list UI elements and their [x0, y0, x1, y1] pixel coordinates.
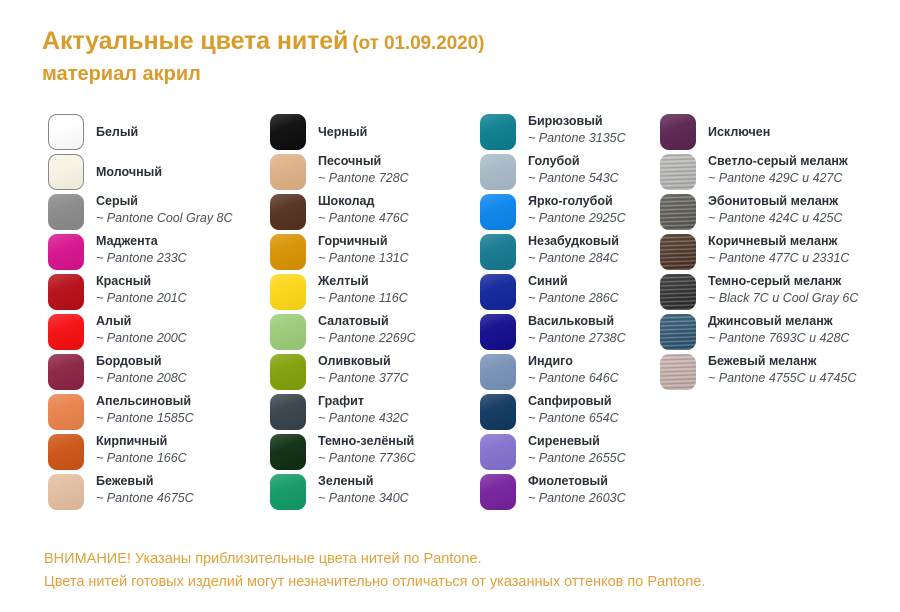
color-row[interactable]: Ярко-голубой~ Pantone 2925C: [480, 192, 655, 232]
color-labels: Джинсовый меланж~ Pantone 7693C и 428C: [708, 312, 849, 353]
color-labels: Незабудковый~ Pantone 284C: [528, 232, 619, 273]
color-swatch[interactable]: [270, 394, 306, 430]
color-swatch[interactable]: [480, 474, 516, 510]
color-column-0: БелыйМолочныйСерый~ Pantone Cool Gray 8C…: [48, 112, 263, 512]
color-labels: Черный: [318, 112, 367, 152]
color-labels: Темно-серый меланж~ Black 7C и Cool Gray…: [708, 272, 858, 313]
color-name: Эбонитовый меланж: [708, 193, 842, 209]
color-row[interactable]: Эбонитовый меланж~ Pantone 424C и 425C: [660, 192, 895, 232]
color-name: Бежевый: [96, 473, 194, 489]
disclaimer-footer: ВНИМАНИЕ! Указаны приблизительные цвета …: [44, 548, 864, 594]
pantone-code: ~ Pantone 2269C: [318, 330, 416, 346]
color-column-2: Бирюзовый~ Pantone 3135CГолубой~ Pantone…: [480, 112, 655, 512]
color-swatch[interactable]: [660, 154, 696, 190]
swatch-sheen-overlay: [270, 354, 306, 390]
color-name: Горчичный: [318, 233, 409, 249]
color-row[interactable]: Исключен: [660, 112, 895, 152]
color-name: Незабудковый: [528, 233, 619, 249]
color-row[interactable]: Горчичный~ Pantone 131C: [270, 232, 475, 272]
swatch-sheen-overlay: [480, 394, 516, 430]
swatch-sheen-overlay: [270, 394, 306, 430]
pantone-code: ~ Pantone 429C и 427C: [708, 170, 848, 186]
pantone-code: ~ Pantone 201C: [96, 290, 187, 306]
color-name: Сиреневый: [528, 433, 626, 449]
pantone-code: ~ Pantone 477C и 2331C: [708, 250, 849, 266]
color-swatch[interactable]: [270, 354, 306, 390]
color-name: Песочный: [318, 153, 409, 169]
swatch-sheen-overlay: [48, 474, 84, 510]
color-row[interactable]: Серый~ Pantone Cool Gray 8C: [48, 192, 263, 232]
color-row[interactable]: Джинсовый меланж~ Pantone 7693C и 428C: [660, 312, 895, 352]
disclaimer-line-2: Цвета нитей готовых изделий могут незнач…: [44, 571, 864, 594]
color-labels: Бордовый~ Pantone 208C: [96, 352, 187, 393]
color-row[interactable]: Коричневый меланж~ Pantone 477C и 2331C: [660, 232, 895, 272]
color-name: Индиго: [528, 353, 619, 369]
color-swatch[interactable]: [48, 274, 84, 310]
color-row[interactable]: Кирпичный~ Pantone 166C: [48, 432, 263, 472]
color-labels: Красный~ Pantone 201C: [96, 272, 187, 313]
color-labels: Кирпичный~ Pantone 166C: [96, 432, 187, 473]
color-row[interactable]: Оливковый~ Pantone 377C: [270, 352, 475, 392]
color-swatch[interactable]: [270, 114, 306, 150]
swatch-sheen-overlay: [480, 354, 516, 390]
color-labels: Исключен: [708, 112, 770, 152]
color-swatch[interactable]: [660, 114, 696, 150]
color-swatch[interactable]: [48, 234, 84, 270]
color-labels: Апельсиновый~ Pantone 1585C: [96, 392, 194, 433]
color-row[interactable]: Темно-серый меланж~ Black 7C и Cool Gray…: [660, 272, 895, 312]
color-swatch[interactable]: [480, 234, 516, 270]
color-name: Джинсовый меланж: [708, 313, 849, 329]
color-swatch[interactable]: [270, 234, 306, 270]
color-row[interactable]: Сапфировый~ Pantone 654C: [480, 392, 655, 432]
color-row[interactable]: Индиго~ Pantone 646C: [480, 352, 655, 392]
swatch-sheen-overlay: [660, 154, 696, 190]
pantone-code: ~ Pantone 2738C: [528, 330, 626, 346]
color-row[interactable]: Апельсиновый~ Pantone 1585C: [48, 392, 263, 432]
page-subtitle: материал акрил: [42, 61, 862, 88]
color-labels: Васильковый~ Pantone 2738C: [528, 312, 626, 353]
swatch-sheen-overlay: [270, 194, 306, 230]
color-labels: Бирюзовый~ Pantone 3135C: [528, 112, 626, 153]
color-labels: Бежевый~ Pantone 4675C: [96, 472, 194, 513]
color-row[interactable]: Васильковый~ Pantone 2738C: [480, 312, 655, 352]
page-header: Актуальные цвета нитей(от 01.09.2020) ма…: [42, 26, 862, 88]
swatch-sheen-overlay: [660, 194, 696, 230]
color-name: Апельсиновый: [96, 393, 194, 409]
color-name: Бирюзовый: [528, 113, 626, 129]
pantone-code: ~ Pantone 233C: [96, 250, 187, 266]
pantone-code: ~ Pantone 7736C: [318, 450, 416, 466]
color-row[interactable]: Маджента~ Pantone 233C: [48, 232, 263, 272]
color-row[interactable]: Салатовый~ Pantone 2269C: [270, 312, 475, 352]
color-labels: Зеленый~ Pantone 340C: [318, 472, 409, 513]
pantone-code: ~ Pantone 432C: [318, 410, 409, 426]
color-swatch[interactable]: [480, 114, 516, 150]
pantone-code: ~ Pantone 208C: [96, 370, 187, 386]
color-row[interactable]: Бордовый~ Pantone 208C: [48, 352, 263, 392]
color-swatch[interactable]: [48, 154, 84, 190]
color-row[interactable]: Синий~ Pantone 286C: [480, 272, 655, 312]
color-labels: Сапфировый~ Pantone 654C: [528, 392, 619, 433]
swatch-sheen-overlay: [480, 434, 516, 470]
pantone-code: ~ Pantone 4675C: [96, 490, 194, 506]
color-name: Исключен: [708, 124, 770, 140]
swatch-sheen-overlay: [480, 314, 516, 350]
swatch-sheen-overlay: [480, 474, 516, 510]
pantone-code: ~ Pantone 286C: [528, 290, 619, 306]
color-palette-grid: БелыйМолочныйСерый~ Pantone Cool Gray 8C…: [0, 112, 900, 522]
color-row[interactable]: Графит~ Pantone 432C: [270, 392, 475, 432]
color-labels: Песочный~ Pantone 728C: [318, 152, 409, 193]
color-row[interactable]: Голубой~ Pantone 543C: [480, 152, 655, 192]
color-row[interactable]: Бежевый~ Pantone 4675C: [48, 472, 263, 512]
swatch-sheen-overlay: [480, 194, 516, 230]
swatch-sheen-overlay: [270, 114, 306, 150]
color-name: Коричневый меланж: [708, 233, 849, 249]
color-name: Ярко-голубой: [528, 193, 626, 209]
swatch-sheen-overlay: [480, 154, 516, 190]
pantone-code: ~ Pantone 7693C и 428C: [708, 330, 849, 346]
swatch-sheen-overlay: [480, 114, 516, 150]
color-name: Темно-серый меланж: [708, 273, 858, 289]
pantone-code: ~ Pantone Cool Gray 8C: [96, 210, 233, 226]
color-row[interactable]: Бирюзовый~ Pantone 3135C: [480, 112, 655, 152]
color-swatch[interactable]: [48, 194, 84, 230]
pantone-code: ~ Pantone 4755C и 4745C: [708, 370, 856, 386]
color-labels: Оливковый~ Pantone 377C: [318, 352, 409, 393]
color-name: Красный: [96, 273, 187, 289]
color-name: Бежевый меланж: [708, 353, 856, 369]
color-swatch[interactable]: [660, 234, 696, 270]
swatch-sheen-overlay: [48, 314, 84, 350]
color-row[interactable]: Песочный~ Pantone 728C: [270, 152, 475, 192]
color-row[interactable]: Фиолетовый~ Pantone 2603C: [480, 472, 655, 512]
color-name: Черный: [318, 124, 367, 140]
swatch-sheen-overlay: [270, 274, 306, 310]
color-name: Серый: [96, 193, 233, 209]
color-swatch[interactable]: [270, 314, 306, 350]
color-column-1: ЧерныйПесочный~ Pantone 728CШоколад~ Pan…: [270, 112, 475, 512]
pantone-code: ~ Pantone 2925C: [528, 210, 626, 226]
color-swatch[interactable]: [48, 114, 84, 150]
swatch-sheen-overlay: [270, 474, 306, 510]
pantone-code: ~ Pantone 200C: [96, 330, 187, 346]
pantone-code: ~ Pantone 543C: [528, 170, 619, 186]
color-labels: Светло-серый меланж~ Pantone 429C и 427C: [708, 152, 848, 193]
swatch-sheen-overlay: [480, 234, 516, 270]
color-swatch[interactable]: [48, 434, 84, 470]
color-labels: Темно-зелёный~ Pantone 7736C: [318, 432, 416, 473]
color-swatch[interactable]: [48, 394, 84, 430]
color-row[interactable]: Бежевый меланж~ Pantone 4755C и 4745C: [660, 352, 895, 392]
color-labels: Молочный: [96, 152, 162, 192]
pantone-code: ~ Pantone 340C: [318, 490, 409, 506]
color-labels: Желтый~ Pantone 116C: [318, 272, 408, 313]
color-name: Бордовый: [96, 353, 187, 369]
color-labels: Бежевый меланж~ Pantone 4755C и 4745C: [708, 352, 856, 393]
color-swatch[interactable]: [480, 314, 516, 350]
color-name: Маджента: [96, 233, 187, 249]
swatch-sheen-overlay: [48, 194, 84, 230]
pantone-code: ~ Black 7C и Cool Gray 6C: [708, 290, 858, 306]
color-name: Кирпичный: [96, 433, 187, 449]
pantone-code: ~ Pantone 424C и 425C: [708, 210, 842, 226]
color-labels: Горчичный~ Pantone 131C: [318, 232, 409, 273]
color-name: Молочный: [96, 164, 162, 180]
color-swatch[interactable]: [270, 154, 306, 190]
pantone-code: ~ Pantone 728C: [318, 170, 409, 186]
swatch-sheen-overlay: [48, 434, 84, 470]
swatch-sheen-overlay: [270, 314, 306, 350]
swatch-sheen-overlay: [49, 155, 83, 189]
color-row[interactable]: Сиреневый~ Pantone 2655C: [480, 432, 655, 472]
color-labels: Салатовый~ Pantone 2269C: [318, 312, 416, 353]
color-name: Фиолетовый: [528, 473, 626, 489]
pantone-code: ~ Pantone 377C: [318, 370, 409, 386]
swatch-sheen-overlay: [660, 274, 696, 310]
page-title-date: (от 01.09.2020): [352, 33, 484, 54]
color-swatch[interactable]: [660, 194, 696, 230]
color-swatch[interactable]: [48, 314, 84, 350]
color-labels: Синий~ Pantone 286C: [528, 272, 619, 313]
pantone-code: ~ Pantone 131C: [318, 250, 409, 266]
pantone-code: ~ Pantone 2655C: [528, 450, 626, 466]
swatch-sheen-overlay: [480, 274, 516, 310]
color-swatch[interactable]: [270, 474, 306, 510]
color-swatch[interactable]: [480, 194, 516, 230]
swatch-sheen-overlay: [660, 114, 696, 150]
color-row[interactable]: Черный: [270, 112, 475, 152]
color-row[interactable]: Светло-серый меланж~ Pantone 429C и 427C: [660, 152, 895, 192]
color-name: Темно-зелёный: [318, 433, 416, 449]
pantone-code: ~ Pantone 2603C: [528, 490, 626, 506]
color-swatch[interactable]: [480, 274, 516, 310]
pantone-code: ~ Pantone 284C: [528, 250, 619, 266]
color-labels: Белый: [96, 112, 138, 152]
color-name: Белый: [96, 124, 138, 140]
color-labels: Маджента~ Pantone 233C: [96, 232, 187, 273]
pantone-code: ~ Pantone 476C: [318, 210, 409, 226]
color-labels: Сиреневый~ Pantone 2655C: [528, 432, 626, 473]
color-name: Шоколад: [318, 193, 409, 209]
color-swatch[interactable]: [270, 434, 306, 470]
color-swatch[interactable]: [660, 314, 696, 350]
color-labels: Ярко-голубой~ Pantone 2925C: [528, 192, 626, 233]
color-swatch[interactable]: [270, 274, 306, 310]
disclaimer-line-1: ВНИМАНИЕ! Указаны приблизительные цвета …: [44, 548, 864, 571]
color-row[interactable]: Темно-зелёный~ Pantone 7736C: [270, 432, 475, 472]
color-row[interactable]: Молочный: [48, 152, 263, 192]
color-swatch[interactable]: [48, 474, 84, 510]
page-title-main: Актуальные цвета нитей: [42, 27, 348, 55]
pantone-code: ~ Pantone 1585C: [96, 410, 194, 426]
color-labels: Фиолетовый~ Pantone 2603C: [528, 472, 626, 513]
color-name: Алый: [96, 313, 187, 329]
pantone-code: ~ Pantone 3135C: [528, 130, 626, 146]
color-labels: Шоколад~ Pantone 476C: [318, 192, 409, 233]
color-row[interactable]: Белый: [48, 112, 263, 152]
color-labels: Голубой~ Pantone 543C: [528, 152, 619, 193]
swatch-sheen-overlay: [48, 354, 84, 390]
page-title: Актуальные цвета нитей(от 01.09.2020): [42, 26, 862, 59]
color-row[interactable]: Шоколад~ Pantone 476C: [270, 192, 475, 232]
color-name: Светло-серый меланж: [708, 153, 848, 169]
color-name: Васильковый: [528, 313, 626, 329]
swatch-sheen-overlay: [270, 234, 306, 270]
color-name: Зеленый: [318, 473, 409, 489]
color-swatch[interactable]: [480, 434, 516, 470]
swatch-sheen-overlay: [660, 314, 696, 350]
swatch-sheen-overlay: [48, 274, 84, 310]
swatch-sheen-overlay: [660, 354, 696, 390]
color-labels: Графит~ Pantone 432C: [318, 392, 409, 433]
color-name: Голубой: [528, 153, 619, 169]
pantone-code: ~ Pantone 654C: [528, 410, 619, 426]
color-column-3: ИсключенСветло-серый меланж~ Pantone 429…: [660, 112, 895, 392]
swatch-sheen-overlay: [48, 394, 84, 430]
color-swatch[interactable]: [480, 354, 516, 390]
color-name: Синий: [528, 273, 619, 289]
swatch-sheen-overlay: [660, 234, 696, 270]
color-labels: Серый~ Pantone Cool Gray 8C: [96, 192, 233, 233]
color-row[interactable]: Зеленый~ Pantone 340C: [270, 472, 475, 512]
color-swatch[interactable]: [660, 354, 696, 390]
color-labels: Индиго~ Pantone 646C: [528, 352, 619, 393]
color-swatch[interactable]: [480, 394, 516, 430]
color-name: Оливковый: [318, 353, 409, 369]
swatch-sheen-overlay: [48, 234, 84, 270]
color-row[interactable]: Красный~ Pantone 201C: [48, 272, 263, 312]
swatch-sheen-overlay: [270, 434, 306, 470]
color-row[interactable]: Алый~ Pantone 200C: [48, 312, 263, 352]
pantone-code: ~ Pantone 166C: [96, 450, 187, 466]
color-swatch[interactable]: [270, 194, 306, 230]
swatch-sheen-overlay: [49, 115, 83, 149]
color-name: Желтый: [318, 273, 408, 289]
color-swatch[interactable]: [660, 274, 696, 310]
color-labels: Эбонитовый меланж~ Pantone 424C и 425C: [708, 192, 842, 233]
swatch-sheen-overlay: [270, 154, 306, 190]
color-name: Сапфировый: [528, 393, 619, 409]
color-labels: Алый~ Pantone 200C: [96, 312, 187, 353]
color-swatch[interactable]: [480, 154, 516, 190]
pantone-code: ~ Pantone 646C: [528, 370, 619, 386]
color-row[interactable]: Незабудковый~ Pantone 284C: [480, 232, 655, 272]
color-name: Графит: [318, 393, 409, 409]
color-labels: Коричневый меланж~ Pantone 477C и 2331C: [708, 232, 849, 273]
pantone-code: ~ Pantone 116C: [318, 290, 408, 306]
color-row[interactable]: Желтый~ Pantone 116C: [270, 272, 475, 312]
color-swatch[interactable]: [48, 354, 84, 390]
color-name: Салатовый: [318, 313, 416, 329]
